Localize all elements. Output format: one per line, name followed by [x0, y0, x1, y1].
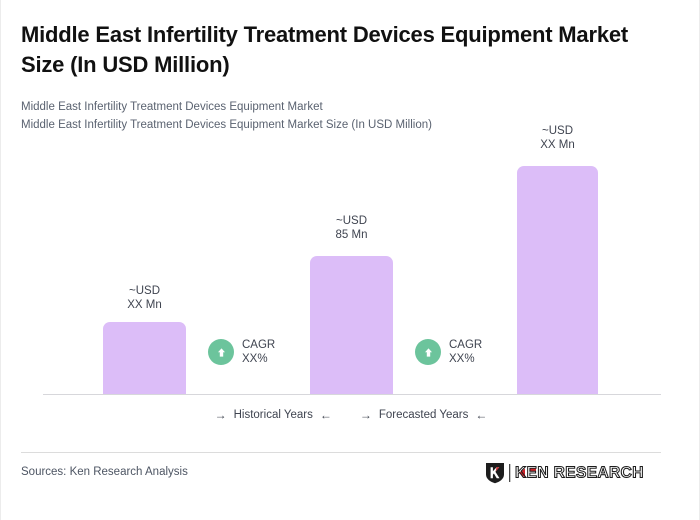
legend-label-forecasted-years: Forecasted Years [379, 409, 469, 421]
arrow-right-icon: → [215, 409, 227, 421]
cagr-badge-1-text: CAGR XX% [242, 338, 275, 366]
axis-baseline [43, 394, 661, 395]
ken-research-logo: KEN RESEARCH KEN RESEARCH [485, 462, 665, 484]
bar-value-label-2: ~USD 85 Mn [310, 214, 393, 242]
bar-value-label-3-line1: ~USD [517, 124, 598, 138]
cagr-badge-2[interactable]: CAGR XX% [415, 338, 482, 366]
cagr-badge-1-label: CAGR [242, 338, 275, 352]
legend-label-historical-years: Historical Years [234, 409, 313, 421]
bar-mid-period[interactable] [310, 256, 393, 394]
chart-page: Middle East Infertility Treatment Device… [0, 0, 700, 520]
legend-item-forecasted-years: → Forecasted Years ← [360, 409, 488, 421]
bar-value-label-3: ~USD XX Mn [517, 124, 598, 152]
bar-value-label-1: ~USD XX Mn [103, 284, 186, 312]
footer-divider [21, 452, 661, 453]
bar-forecasted[interactable] [517, 166, 598, 394]
bar-value-label-2-line2: 85 Mn [310, 228, 393, 242]
cagr-badge-2-text: CAGR XX% [449, 338, 482, 366]
arrow-up-icon [415, 339, 441, 365]
cagr-badge-1[interactable]: CAGR XX% [208, 338, 275, 366]
cagr-badge-2-label: CAGR [449, 338, 482, 352]
arrow-right-icon: → [360, 409, 372, 421]
cagr-badge-1-value: XX% [242, 352, 275, 366]
period-legend: → Historical Years ← → Forecasted Years … [1, 409, 700, 421]
arrow-left-icon: ← [320, 409, 332, 421]
cagr-badge-2-value: XX% [449, 352, 482, 366]
arrow-up-icon [208, 339, 234, 365]
bar-value-label-3-line2: XX Mn [517, 138, 598, 152]
arrow-left-icon: ← [475, 409, 487, 421]
sources-text: Sources: Ken Research Analysis [21, 466, 188, 478]
legend-item-historical-years: → Historical Years ← [215, 409, 332, 421]
chart-plot-area: ~USD XX Mn CAGR XX% ~USD 85 Mn [1, 0, 700, 400]
bar-value-label-1-line1: ~USD [103, 284, 186, 298]
bar-value-label-2-line1: ~USD [310, 214, 393, 228]
bar-value-label-1-line2: XX Mn [103, 298, 186, 312]
bar-historical[interactable] [103, 322, 186, 394]
